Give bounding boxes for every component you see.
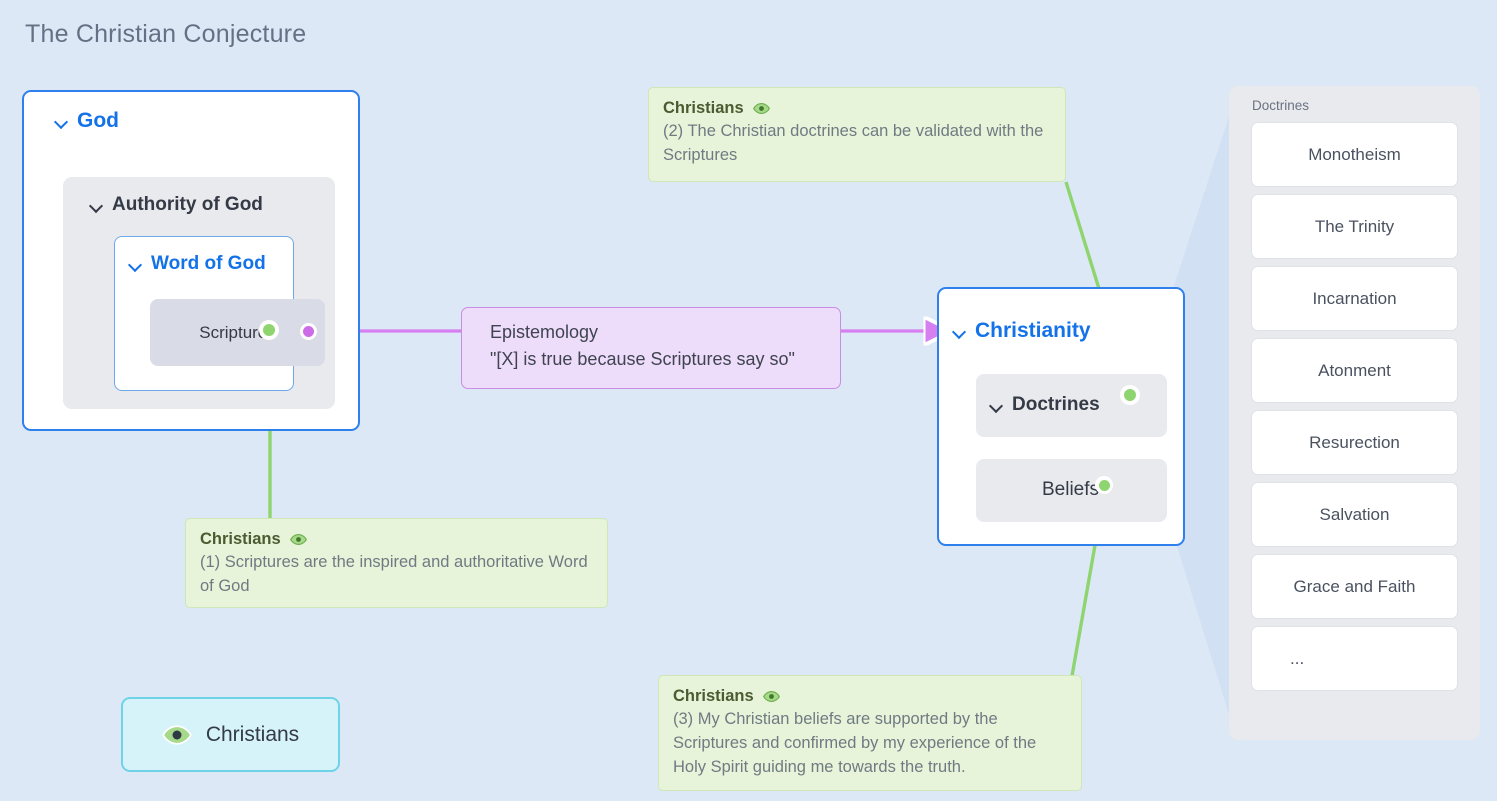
group-authority-label: Authority of God <box>112 194 263 216</box>
annotation-author: Christians <box>663 99 744 118</box>
node-doctrines[interactable]: Doctrines <box>976 374 1167 437</box>
doctrine-item-label: Monotheism <box>1308 145 1401 165</box>
handle-beliefs-green[interactable] <box>1095 476 1113 494</box>
node-scriptures[interactable]: Scriptures <box>150 299 325 366</box>
node-epistemology-statement: "[X] is true because Scriptures say so" <box>490 349 818 370</box>
node-doctrines-label: Doctrines <box>1012 394 1100 416</box>
diagram-canvas: The Christian Conjecture God Authority o… <box>0 0 1497 801</box>
group-authority-title[interactable]: Authority of God <box>90 194 263 216</box>
chevron-down-icon[interactable] <box>90 199 103 212</box>
chevron-down-icon[interactable] <box>990 399 1003 412</box>
eye-icon <box>162 720 192 750</box>
node-doctrines-title[interactable]: Doctrines <box>990 394 1100 416</box>
handle-doctrines-green[interactable] <box>1120 385 1140 405</box>
annotation-header: Christians <box>200 530 593 549</box>
group-word-of-god-title[interactable]: Word of God <box>129 253 266 275</box>
doctrine-item-label: Salvation <box>1320 505 1390 525</box>
doctrine-item-label: ... <box>1290 649 1304 669</box>
group-christianity[interactable]: Christianity Doctrines Beliefs <box>937 287 1185 546</box>
group-authority-of-god[interactable]: Authority of God Word of God Scriptures <box>63 177 335 409</box>
doctrine-item[interactable]: Resurection <box>1251 410 1458 475</box>
annotation-author: Christians <box>673 687 754 706</box>
page-title: The Christian Conjecture <box>25 20 306 49</box>
panel-doctrines-title: Doctrines <box>1252 98 1458 113</box>
doctrine-item-label: Grace and Faith <box>1294 577 1416 597</box>
doctrine-item[interactable]: Atonment <box>1251 338 1458 403</box>
panel-doctrines[interactable]: Doctrines Monotheism The Trinity Incarna… <box>1229 86 1480 740</box>
doctrine-item-more[interactable]: ... <box>1251 626 1458 691</box>
annotation-text: (3) My Christian beliefs are supported b… <box>673 708 1067 780</box>
doctrine-item-label: Resurection <box>1309 433 1400 453</box>
annotation-header: Christians <box>663 99 1051 118</box>
chevron-down-icon[interactable] <box>129 258 142 271</box>
doctrine-item[interactable]: Salvation <box>1251 482 1458 547</box>
group-god-label: God <box>77 109 119 133</box>
node-epistemology[interactable]: Epistemology "[X] is true because Script… <box>461 307 841 389</box>
doctrine-item[interactable]: Incarnation <box>1251 266 1458 331</box>
group-christianity-label: Christianity <box>975 319 1091 343</box>
group-christianity-title[interactable]: Christianity <box>953 319 1091 343</box>
handle-scriptures-purple[interactable] <box>300 323 317 340</box>
eye-icon[interactable] <box>290 531 307 548</box>
chevron-down-icon[interactable] <box>953 325 966 338</box>
group-god[interactable]: God Authority of God Word of God Scriptu… <box>22 90 360 431</box>
doctrine-item-label: The Trinity <box>1315 217 1394 237</box>
handle-scriptures-green[interactable] <box>259 320 279 340</box>
doctrine-item-label: Atonment <box>1318 361 1391 381</box>
annotation-card-3[interactable]: Christians (3) My Christian beliefs are … <box>658 675 1082 791</box>
annotation-text: (2) The Christian doctrines can be valid… <box>663 120 1051 168</box>
node-beliefs-label: Beliefs <box>1042 479 1099 501</box>
group-god-title[interactable]: God <box>55 109 119 133</box>
doctrine-item[interactable]: Monotheism <box>1251 122 1458 187</box>
annotation-text: (1) Scriptures are the inspired and auth… <box>200 551 593 599</box>
group-word-of-god-label: Word of God <box>151 253 266 275</box>
legend-christians[interactable]: Christians <box>121 697 340 772</box>
annotation-card-1[interactable]: Christians (1) Scriptures are the inspir… <box>185 518 608 608</box>
annotation-header: Christians <box>673 687 1067 706</box>
legend-label: Christians <box>206 723 299 747</box>
chevron-down-icon[interactable] <box>55 115 68 128</box>
doctrine-item[interactable]: The Trinity <box>1251 194 1458 259</box>
annotation-card-2[interactable]: Christians (2) The Christian doctrines c… <box>648 87 1066 182</box>
doctrine-item[interactable]: Grace and Faith <box>1251 554 1458 619</box>
doctrine-item-label: Incarnation <box>1312 289 1396 309</box>
group-word-of-god[interactable]: Word of God Scriptures <box>114 236 294 391</box>
node-beliefs[interactable]: Beliefs <box>976 459 1167 522</box>
eye-icon[interactable] <box>763 688 780 705</box>
annotation-author: Christians <box>200 530 281 549</box>
eye-icon[interactable] <box>753 100 770 117</box>
node-epistemology-title: Epistemology <box>490 322 818 343</box>
